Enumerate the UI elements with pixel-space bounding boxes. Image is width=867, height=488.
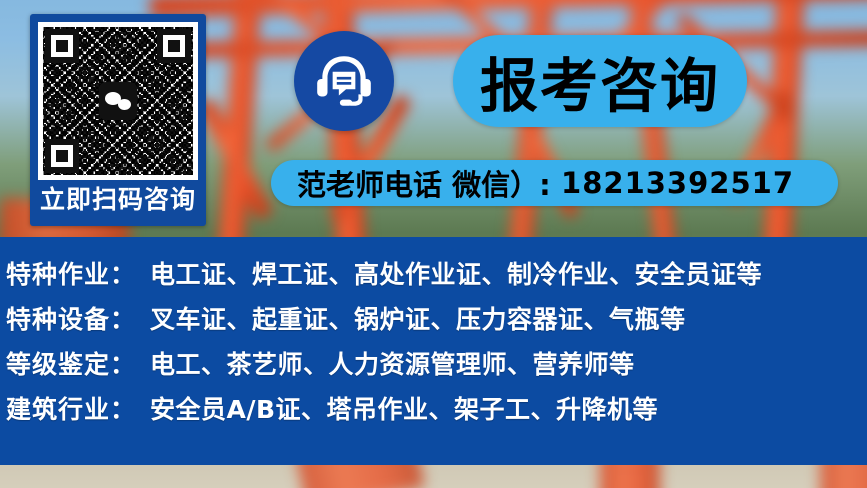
category-items: 电工、茶艺师、人力资源管理师、营养师等 [150, 345, 635, 381]
category-row-construction-industry: 建筑行业： 安全员A/B证、塔吊作业、架子工、升降机等 [6, 390, 867, 435]
qr-code-card[interactable]: 立即扫码咨询 [30, 14, 206, 226]
headset-support-icon [294, 31, 394, 131]
qr-code-image[interactable] [38, 22, 198, 180]
qr-caption: 立即扫码咨询 [38, 180, 198, 220]
category-name: 建筑行业： [6, 390, 136, 426]
contact-phone-number[interactable]: 18213392517 [561, 166, 812, 200]
category-items: 叉车证、起重证、锅炉证、压力容器证、气瓶等 [150, 300, 686, 336]
category-name: 特种作业： [6, 255, 136, 291]
qr-matrix [43, 27, 193, 175]
qr-finder-top-right [157, 29, 191, 63]
category-items: 安全员A/B证、塔吊作业、架子工、升降机等 [150, 390, 658, 426]
category-name: 等级鉴定： [6, 345, 136, 381]
category-name: 特种设备： [6, 300, 136, 336]
headline-text: 报考咨询 [480, 39, 720, 123]
qr-finder-bottom-left [45, 139, 79, 173]
category-items: 电工证、焊工证、高处作业证、制冷作业、安全员证等 [150, 255, 762, 291]
wechat-icon [99, 82, 137, 120]
category-row-special-operations: 特种作业： 电工证、焊工证、高处作业证、制冷作业、安全员证等 [6, 255, 867, 300]
contact-pill[interactable]: 范老师电话 微信）: 18213392517 [271, 160, 838, 206]
category-row-special-equipment: 特种设备： 叉车证、起重证、锅炉证、压力容器证、气瓶等 [6, 300, 867, 345]
certificate-category-band: 特种作业： 电工证、焊工证、高处作业证、制冷作业、安全员证等 特种设备： 叉车证… [0, 237, 867, 465]
qr-finder-top-left [45, 29, 79, 63]
promo-poster: 立即扫码咨询 报考咨询 范老师电话 微信）: 18213392517 特种作业：… [0, 0, 867, 488]
contact-label: 范老师电话 微信）: [297, 162, 551, 204]
headline-pill: 报考咨询 [453, 35, 747, 127]
category-row-grade-assessment: 等级鉴定： 电工、茶艺师、人力资源管理师、营养师等 [6, 345, 867, 390]
